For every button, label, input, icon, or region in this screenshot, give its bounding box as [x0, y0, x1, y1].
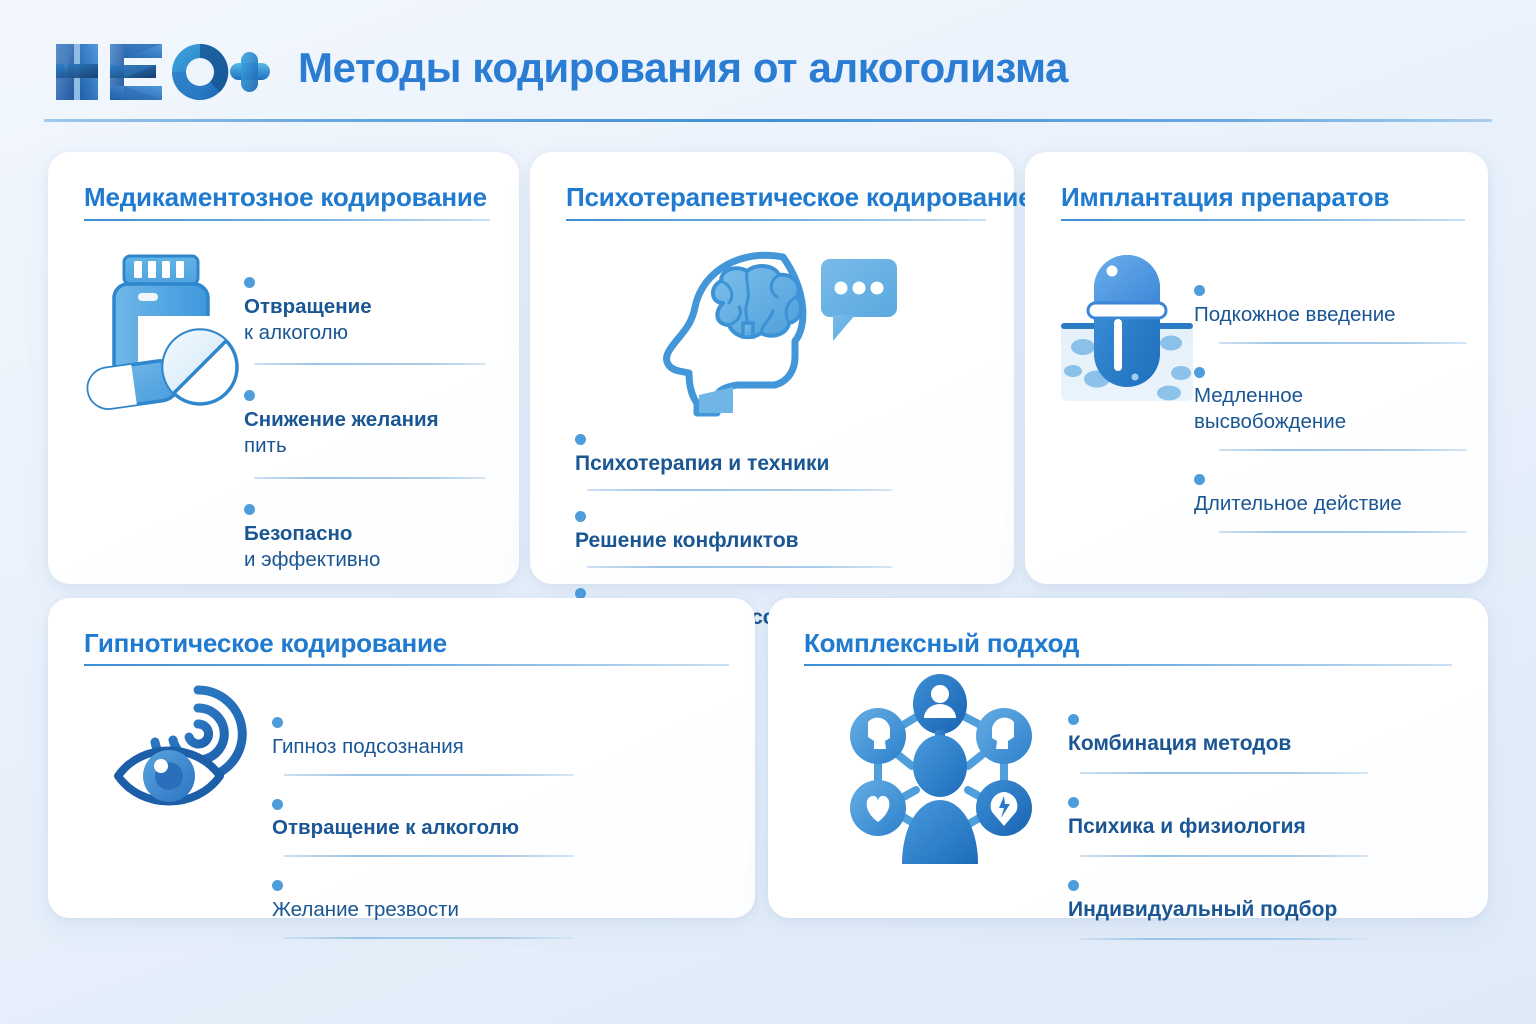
page-header: Методы кодирования от алкоголизма [0, 0, 1536, 132]
bullet-item: Снижение желания пить [244, 381, 489, 458]
bullet-separator [1219, 531, 1467, 533]
eye-spiral-icon [112, 672, 274, 820]
bullet-dot-icon [272, 880, 283, 891]
bullet-separator [284, 937, 574, 939]
bullet-label: Отвращение к алкоголю [244, 294, 489, 346]
logo-letter-h [56, 44, 98, 100]
center-person-icon [902, 735, 978, 864]
logo-letter-e [110, 44, 162, 100]
bullet-dot-icon [1194, 285, 1205, 296]
bullet-separator [587, 489, 892, 491]
bullet-label: Медленное высвобождение [1194, 383, 1472, 435]
bullet-item: Медленное высвобождение [1194, 358, 1472, 435]
card-title-medication: Медикаментозное кодирование [84, 182, 487, 213]
header-divider [44, 119, 1492, 122]
card-title-divider [1061, 219, 1465, 221]
bullet-item: Длительное действие [1194, 465, 1472, 517]
bullet-dot-icon [575, 511, 586, 522]
bullet-item: Гипноз подсознания [272, 708, 602, 760]
bullet-separator [1080, 772, 1368, 774]
speech-bubble-icon [821, 259, 897, 341]
bullet-item: Комбинация методов [1068, 705, 1378, 758]
bullet-label: Комбинация методов [1068, 731, 1378, 757]
neo-plus-logo[interactable] [52, 38, 270, 106]
card-title-implantation: Имплантация препаратов [1061, 182, 1389, 213]
bullet-label: Снижение желания пить [244, 407, 489, 459]
bullet-separator [254, 477, 486, 479]
bullet-separator [284, 774, 574, 776]
bullet-label: Длительное действие [1194, 491, 1472, 517]
bullet-list-implantation: Подкожное введение Медленное высвобожден… [1194, 276, 1472, 547]
bullet-dot-icon [1194, 367, 1205, 378]
bullet-dot-icon [575, 434, 586, 445]
node-pin-icon [976, 780, 1032, 836]
bullet-label: Решение конфликтов [575, 528, 975, 554]
card-title-divider [804, 664, 1452, 666]
bullet-item: Желание трезвости [272, 871, 602, 923]
node-head-left-icon [850, 708, 906, 764]
card-title-divider [566, 219, 986, 221]
card-title-psychotherapy: Психотерапевтическое кодирование [566, 182, 1032, 213]
bullet-label: Гипноз подсознания [272, 734, 602, 760]
bullet-label: Желание трезвости [272, 897, 602, 923]
bullet-dot-icon [244, 504, 255, 515]
bullet-list-complex-approach: Комбинация методов Психика и физиология … [1068, 705, 1378, 954]
capsule-implant-icon [1057, 247, 1197, 409]
bullet-label: Психотерапия и техники [575, 451, 975, 477]
logo-letter-o [172, 44, 228, 100]
bullet-separator [1080, 855, 1368, 857]
bullet-list-medication: Отвращение к алкоголю Снижение желания п… [244, 268, 489, 572]
bullet-item: Индивидуальный подбор [1068, 871, 1378, 924]
bullet-label: Безопасно и эффективно [244, 521, 489, 573]
bullet-item: Отвращение к алкоголю [272, 790, 602, 842]
bullet-separator [1219, 449, 1467, 451]
bullet-dot-icon [1194, 474, 1205, 485]
node-heart-icon [850, 780, 906, 836]
bullet-separator [254, 363, 486, 365]
bullet-list-hypnosis: Гипноз подсознания Отвращение к алкоголю… [272, 708, 602, 953]
bullet-item: Отвращение к алкоголю [244, 268, 489, 345]
bullet-label: Психика и физиология [1068, 814, 1378, 840]
bullet-dot-icon [272, 799, 283, 810]
bullet-separator [1080, 938, 1368, 940]
bullet-label: Индивидуальный подбор [1068, 897, 1378, 923]
bullet-item: Подкожное введение [1194, 276, 1472, 328]
bullet-item: Психика и физиология [1068, 788, 1378, 841]
card-title-hypnosis: Гипнотическое кодирование [84, 628, 447, 659]
bullet-dot-icon [244, 390, 255, 401]
node-head-right-icon [976, 708, 1032, 764]
card-title-complex-approach: Комплексный подход [804, 628, 1079, 659]
bullet-item: Психотерапия и техники [575, 425, 975, 478]
head-brain-speech-icon [655, 245, 900, 417]
bullet-dot-icon [1068, 797, 1079, 808]
bullet-label: Подкожное введение [1194, 302, 1472, 328]
card-title-divider [84, 664, 729, 666]
bullet-separator [1219, 342, 1467, 344]
page-title: Методы кодирования от алкоголизма [298, 44, 1068, 92]
logo-plus-sign [230, 52, 270, 92]
bullet-item: Решение конфликтов [575, 502, 975, 555]
bullet-item: Безопасно и эффективно [244, 495, 489, 572]
bullet-dot-icon [1068, 714, 1079, 725]
person-network-icon [840, 668, 1040, 868]
node-person-icon [913, 674, 967, 744]
card-title-divider [84, 219, 490, 221]
bullet-separator [587, 566, 892, 568]
bullet-separator [284, 855, 574, 857]
bullet-dot-icon [1068, 880, 1079, 891]
bullet-dot-icon [244, 277, 255, 288]
pill-bottle-icon [78, 248, 238, 408]
bullet-dot-icon [272, 717, 283, 728]
bullet-label: Отвращение к алкоголю [272, 815, 602, 841]
